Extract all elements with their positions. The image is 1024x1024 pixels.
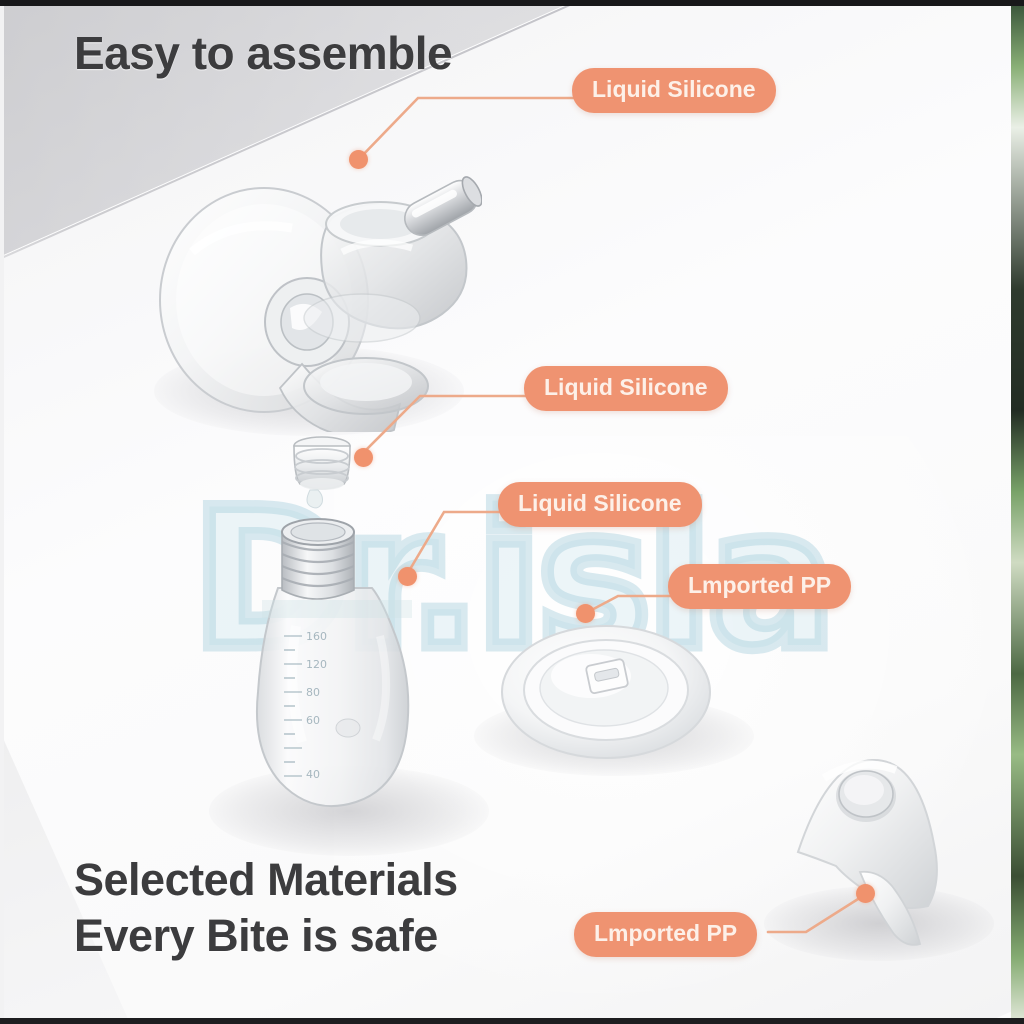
leader-line-valve bbox=[350, 382, 540, 468]
callout-label-disc: Lmported PP bbox=[668, 564, 851, 609]
callout-label-bottle: Liquid Silicone bbox=[498, 482, 702, 527]
part-sealing-disc bbox=[496, 614, 716, 764]
svg-text:60: 60 bbox=[306, 714, 320, 727]
callout-label-stand: Lmported PP bbox=[574, 912, 757, 957]
callout-dot-disc bbox=[576, 604, 595, 623]
heading-bottom-line1: Selected Materials bbox=[74, 852, 458, 908]
heading-top: Easy to assemble bbox=[74, 26, 452, 80]
right-edge-strip bbox=[1011, 6, 1024, 1018]
svg-text:80: 80 bbox=[306, 686, 320, 699]
svg-text:120: 120 bbox=[306, 658, 327, 671]
left-edge-strip bbox=[0, 6, 4, 1018]
leader-line-flange bbox=[344, 84, 584, 174]
heading-bottom: Selected Materials Every Bite is safe bbox=[74, 852, 458, 964]
svg-text:160: 160 bbox=[306, 630, 327, 643]
callout-label-flange: Liquid Silicone bbox=[572, 68, 776, 113]
letterbox-top-strip bbox=[0, 0, 1024, 6]
callout-dot-valve bbox=[354, 448, 373, 467]
callout-label-valve: Liquid Silicone bbox=[524, 366, 728, 411]
callout-dot-bottle bbox=[398, 567, 417, 586]
letterbox-bottom-strip bbox=[0, 1018, 1024, 1024]
product-scene: Dr.isla Dr.isla bbox=[4, 6, 1011, 1018]
svg-text:40: 40 bbox=[306, 768, 320, 781]
infographic-canvas: Dr.isla Dr.isla bbox=[0, 0, 1024, 1024]
callout-dot-flange bbox=[349, 150, 368, 169]
heading-bottom-line2: Every Bite is safe bbox=[74, 908, 458, 964]
callout-dot-stand bbox=[856, 884, 875, 903]
